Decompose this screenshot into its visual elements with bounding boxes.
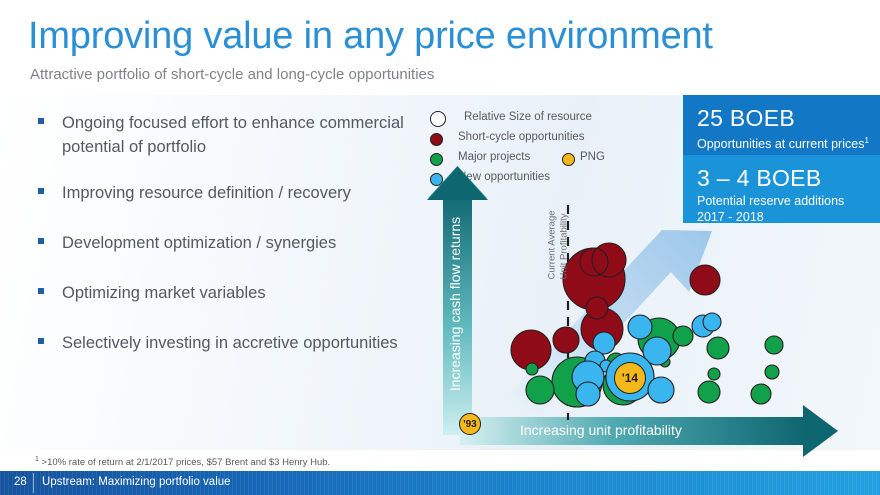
reference-line-label: Current Average Unit Profitability [534,206,558,286]
page-number: 28 [14,476,27,488]
bubble [673,326,693,346]
footnote-text: >10% rate of return at 2/1/2017 prices, … [42,457,331,468]
bubble [765,365,779,379]
bubble [707,337,729,359]
bubble [708,368,720,380]
y-axis-label-text: Increasing cash flow returns [447,216,463,390]
bubble-chart [0,0,880,495]
footnote: 1 >10% rate of return at 2/1/2017 prices… [35,456,330,468]
slide-root: Improving value in any price environment… [0,0,880,495]
x-axis-label: Increasing unit profitability [520,422,682,438]
bubble [751,384,771,404]
bubble [765,336,783,354]
bubble [690,265,720,295]
y-axis-label: Increasing cash flow returns [445,196,465,411]
bubble [698,381,720,403]
footer-bar: 28 Upstream: Maximizing portfolio value [0,471,880,495]
bubble [526,363,538,375]
footer-divider [33,473,34,493]
bubble [553,327,579,353]
footnote-marker: 1 [35,456,39,463]
reference-line-label-line1: Current Average [547,200,558,280]
year-marker-14: '14 [614,362,646,394]
bubble [628,315,652,339]
reference-line-label-line2: Unit Profitability [559,200,570,280]
bubble [526,376,554,404]
bubble [703,313,721,331]
year-marker-93: '93 [459,413,481,435]
footer-text: Upstream: Maximizing portfolio value [42,476,231,488]
bubble [648,377,674,403]
bubble [586,297,608,319]
bubble [576,382,600,406]
